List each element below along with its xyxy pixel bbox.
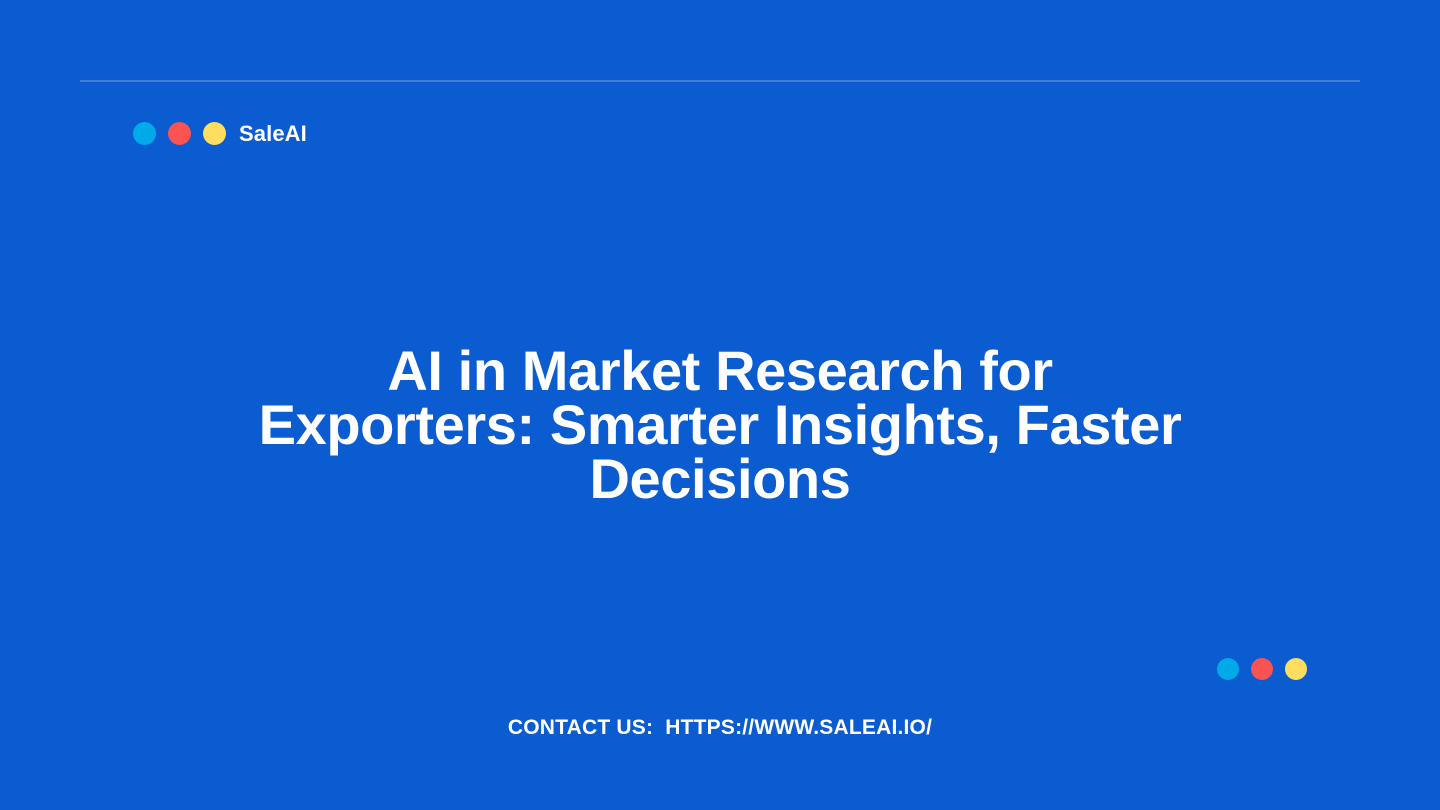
- page-title: AI in Market Research for Exporters: Sma…: [0, 344, 1440, 506]
- brand-logo[interactable]: SaleAI: [133, 122, 307, 145]
- contact-us-text[interactable]: CONTACT US: HTTPS://WWW.SALEAI.IO/: [0, 714, 1440, 742]
- circle-dot-icon-cyan: [1217, 658, 1239, 680]
- top-divider-rule: [80, 80, 1360, 82]
- circle-dot-icon-yellow: [1285, 658, 1307, 680]
- circle-dot-icon-red: [168, 122, 191, 145]
- circle-dot-icon-red: [1251, 658, 1273, 680]
- corner-dot-group: [1217, 658, 1307, 680]
- circle-dot-icon-cyan: [133, 122, 156, 145]
- title-slide: SaleAI AI in Market Research for Exporte…: [0, 0, 1440, 810]
- circle-dot-icon-yellow: [203, 122, 226, 145]
- brand-name: SaleAI: [239, 123, 307, 145]
- brand-dot-group: [133, 122, 226, 145]
